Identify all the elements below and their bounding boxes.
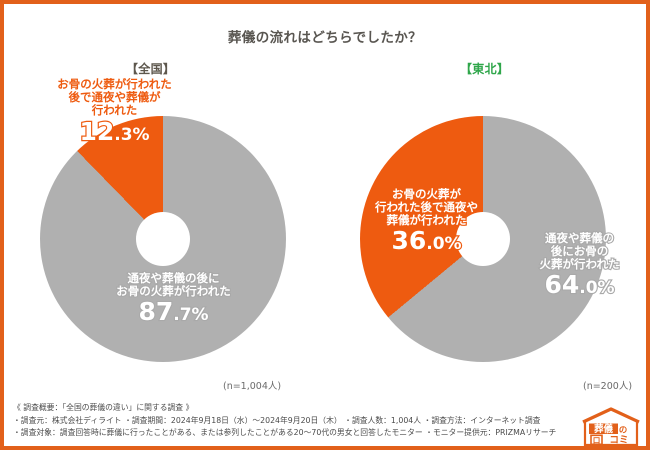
footnote-line-3: ・調査対象：調査回答時に葬儀に行ったことがある、または参列したことがある20〜7… [13,427,573,440]
page-title: 葬儀の流れはどちらでしたか？ [4,26,646,46]
slice-value-national-orange: 12.3% [12,118,217,147]
survey-footnote: 《 調査概要：「全国の葬儀の違い」に関する調査 》 ・調査元：株式会社ディライト… [13,402,573,440]
slice-value-tohoku-orange: 36.0% [334,227,519,256]
logo-text-line1-suffix: の [619,425,627,435]
logo-text-line2-first: 口 [593,436,601,445]
logo-text-line2-rest: コミ [609,435,628,446]
region-label-tohoku: 【東北】 [460,60,509,77]
footnote-line-2: ・調査元：株式会社ディライト ・調査期間：2024年9月18日（水）〜2024年… [13,415,573,428]
slice-label-tohoku-gray: 通夜や葬儀の 後にお骨の 火葬が行われた 64.0% [512,232,647,300]
brand-logo: 葬儀 の 口 コミ [578,406,644,448]
region-label-national: 【全国】 [126,60,175,77]
slice-value-tohoku-gray: 64.0% [512,271,647,300]
house-logo-icon: 葬儀 の 口 コミ [578,406,644,448]
slice-label-tohoku-orange: お骨の火葬が 行われた後で通夜や 葬儀が行われた 36.0% [334,188,519,256]
sample-size-caption-national: (n=1,004人) [223,378,281,392]
donut-center-hole-national [136,212,190,266]
slice-label-national-orange: お骨の火葬が行われた 後で通夜や葬儀が 行われた 12.3% [12,78,217,147]
logo-text-line1: 葬儀 [594,423,613,435]
slice-category-line: 行われた [12,104,217,117]
slice-category-line: 火葬が行われた [512,258,647,271]
slice-label-national-gray: 通夜や葬儀の後に お骨の火葬が行われた 87.7% [66,272,281,327]
slice-category-line: お骨の火葬が行われた [66,285,281,298]
slice-category-line: 葬儀が行われた [334,214,519,227]
slice-value-national-gray: 87.7% [66,298,281,327]
footnote-line-1: 《 調査概要：「全国の葬儀の違い」に関する調査 》 [13,402,573,415]
infographic-frame: 葬儀の流れはどちらでしたか？ 【全国】 【東北】 お骨の火葬が行われた 後で通夜… [0,0,650,450]
sample-size-caption-tohoku: (n=200人) [583,378,632,392]
